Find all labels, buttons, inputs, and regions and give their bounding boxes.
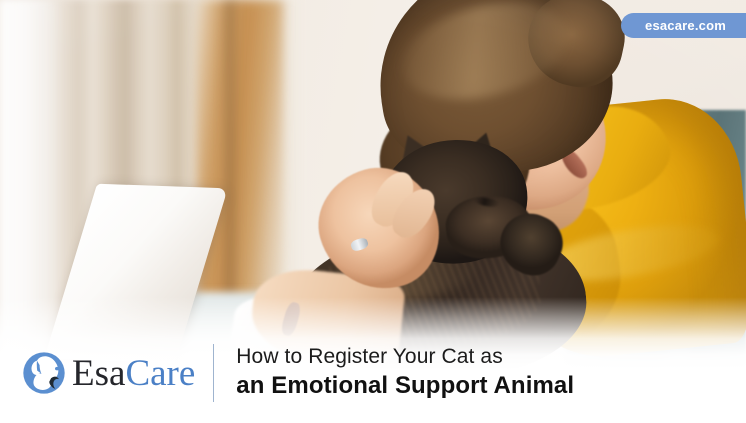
banner-footer: EsaCare How to Register Your Cat as an E… <box>0 323 746 423</box>
headline-line-2: an Emotional Support Animal <box>236 372 574 401</box>
website-url-badge[interactable]: esacare.com <box>621 13 746 38</box>
photo-curtain-seam <box>222 0 238 310</box>
brand-name-esa: Esa <box>72 353 125 394</box>
promo-banner: esacare.com <box>0 0 746 423</box>
brand-logo[interactable]: EsaCare <box>22 351 195 395</box>
dog-and-cat-circle-logo-icon <box>22 351 66 395</box>
photo-wood-column <box>196 0 284 300</box>
headline-line-1: How to Register Your Cat as <box>236 345 574 369</box>
brand-name-care: Care <box>125 353 195 394</box>
vertical-divider <box>213 344 214 402</box>
brand-wordmark: EsaCare <box>72 355 195 392</box>
headline-block: How to Register Your Cat as an Emotional… <box>236 345 574 400</box>
